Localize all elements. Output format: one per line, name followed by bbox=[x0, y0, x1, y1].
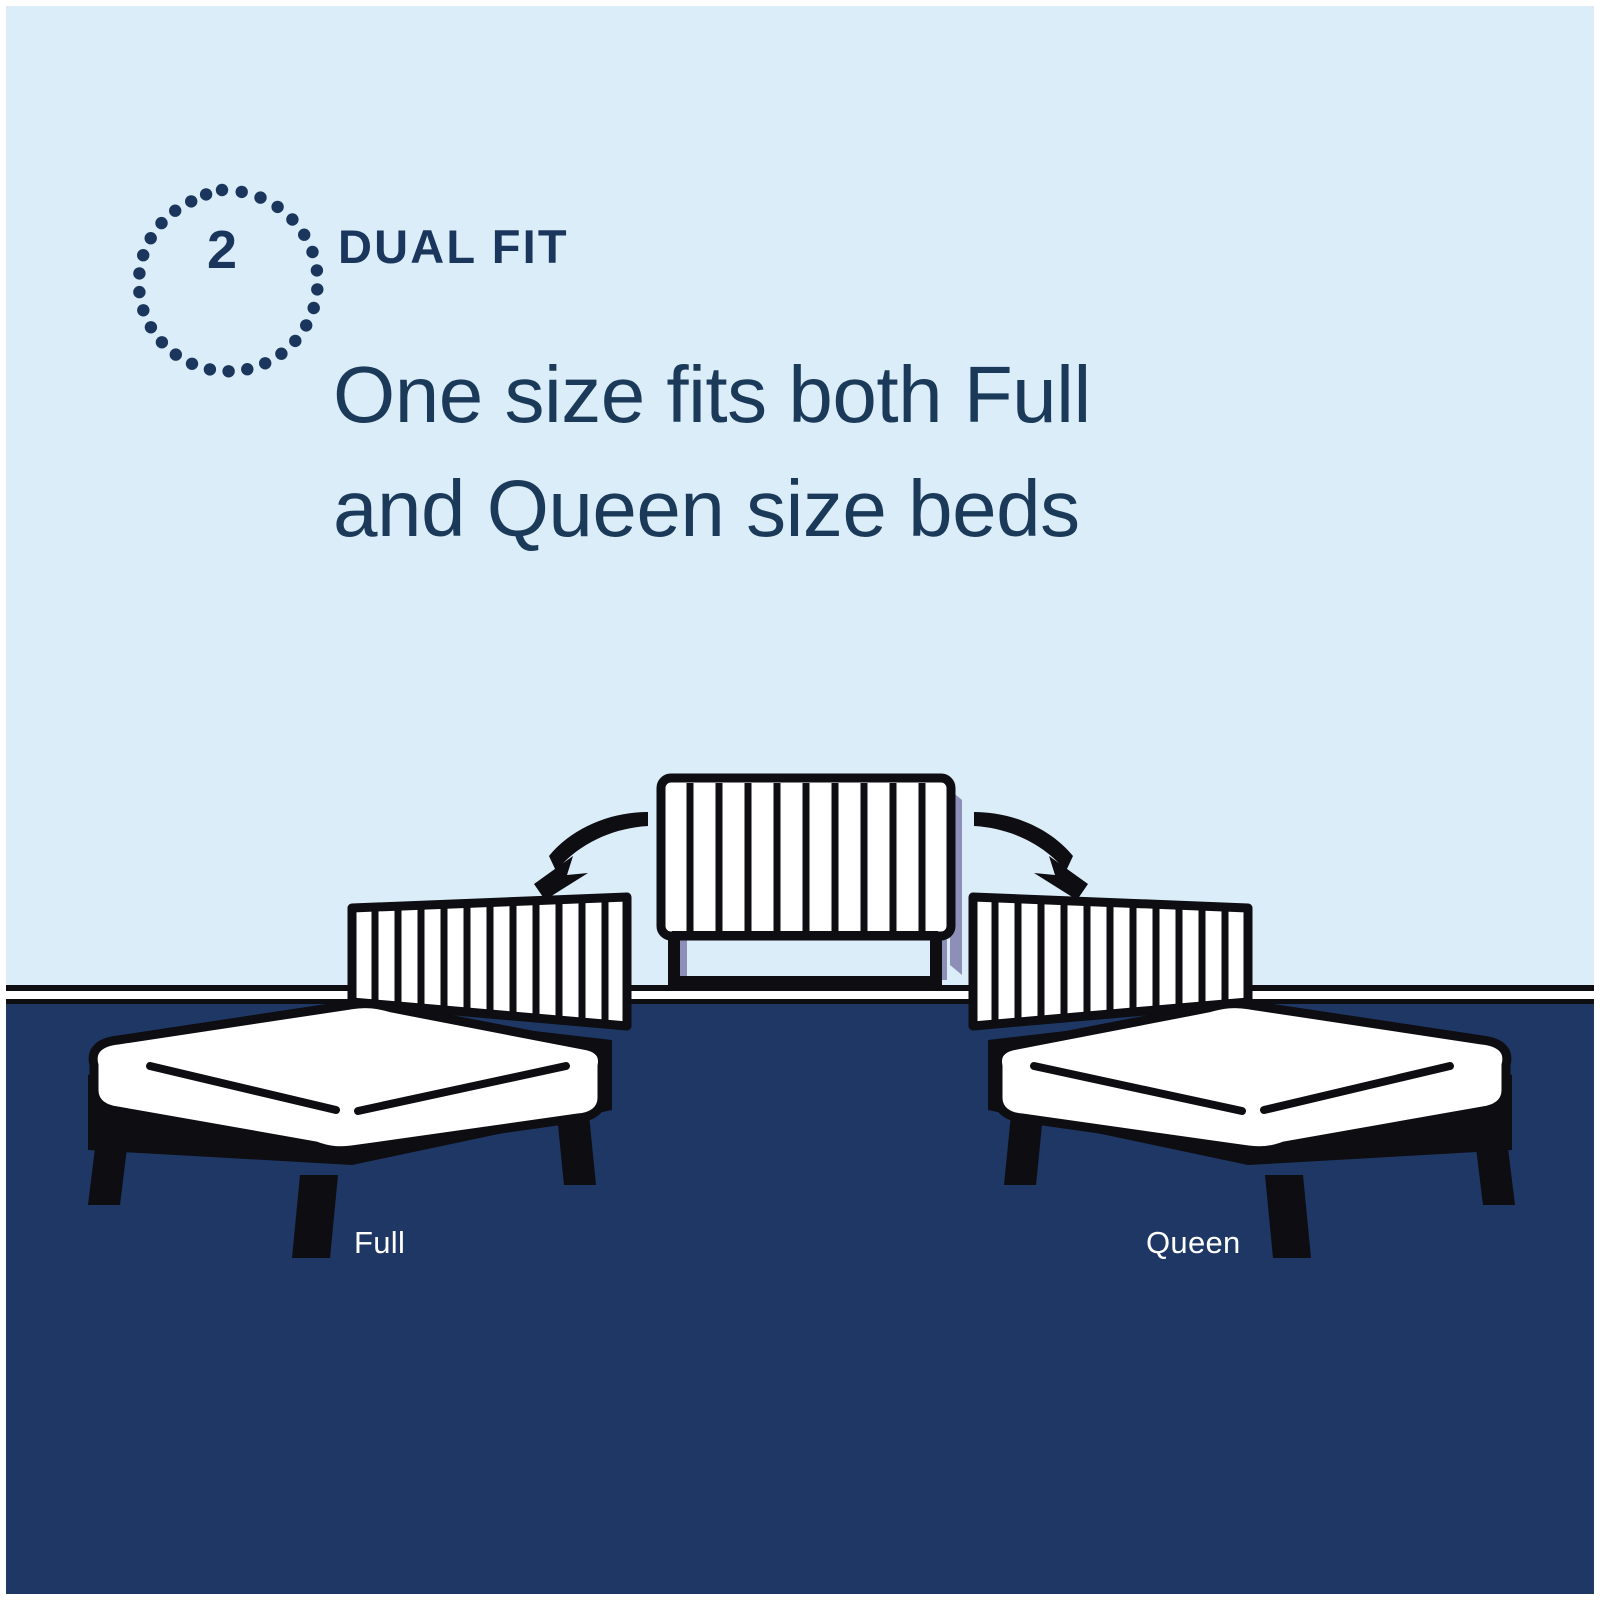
baseboard-top-line bbox=[6, 985, 1594, 991]
step-number: 2 bbox=[158, 186, 286, 314]
queen-bed-label: Queen bbox=[1146, 1225, 1241, 1261]
full-bed-leg-front-right bbox=[292, 1175, 338, 1258]
headboard-rail bbox=[672, 931, 938, 940]
baseboard-bottom-line bbox=[6, 999, 1594, 1004]
headboard-foot-rail bbox=[672, 976, 938, 985]
page-title: One size fits both Full and Queen size b… bbox=[333, 338, 1373, 565]
step-badge: 2 bbox=[158, 186, 286, 314]
queen-bed-leg-front-left bbox=[1265, 1175, 1311, 1258]
headline-line-2: and Queen size beds bbox=[333, 452, 1373, 566]
infographic-canvas: 2 DUAL FIT One size fits both Full and Q… bbox=[0, 0, 1600, 1600]
headline-line-1: One size fits both Full bbox=[333, 338, 1373, 452]
full-bed-label: Full bbox=[354, 1225, 405, 1261]
feature-kicker: DUAL FIT bbox=[338, 219, 569, 274]
